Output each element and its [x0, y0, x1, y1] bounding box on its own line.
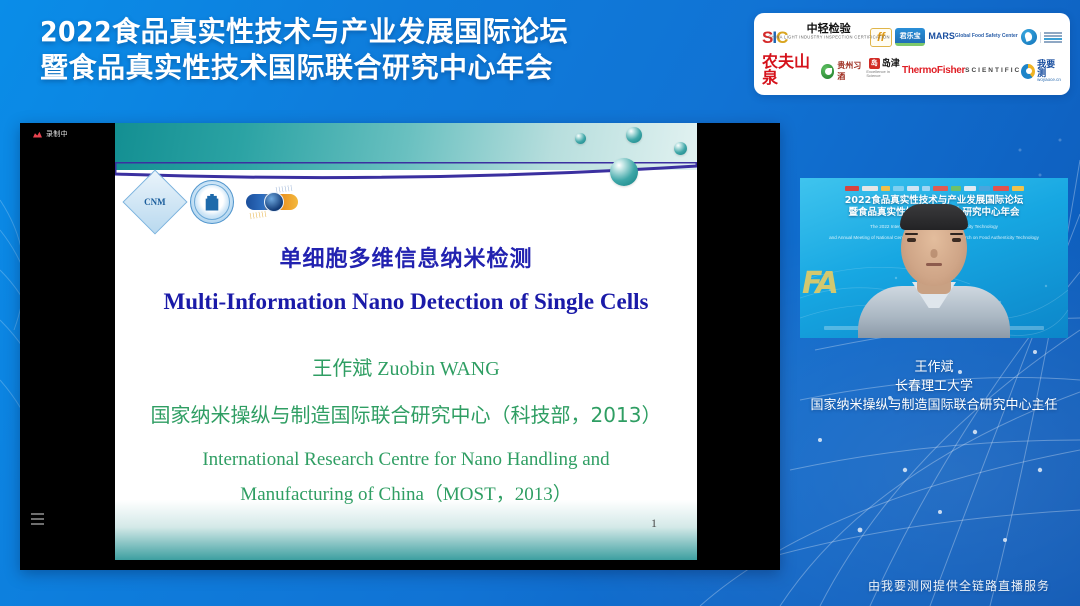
shimadzu-logo: 岛岛津 Excellence in Science [866, 58, 902, 84]
slide-title-chinese: 单细胞多维信息纳米检测 [135, 241, 677, 273]
woyaoce-logo: 我要测 woyaoce.cn [1021, 58, 1062, 84]
sponsor-logo-panel: SIC 中轻检验 CHINA LIGHT INDUSTRY INSPECTION… [754, 13, 1070, 95]
bubble-decoration [626, 127, 642, 143]
bubble-decoration [575, 133, 586, 144]
speaker-organization: 长春理工大学 [800, 377, 1068, 396]
bubble-decoration [674, 142, 687, 155]
slide-affiliation-chinese: 国家纳米操纵与制造国际联合研究中心（科技部，2013） [135, 399, 677, 428]
mars-gfsc-logo: MARS Global Food Safety Center [928, 24, 1017, 50]
conference-title-line1: 2022食品真实性技术与产业发展国际论坛 [40, 14, 568, 50]
slide-title-english: Multi-Information Nano Detection of Sing… [135, 289, 677, 315]
speaker-name: 王作斌 [800, 358, 1068, 377]
mars-sub: Global Food Safety Center [955, 34, 1018, 39]
livestream-page: 2022食品真实性技术与产业发展国际论坛 暨食品真实性技术国际联合研究中心年会 … [0, 0, 1080, 606]
imms-wordmark [1040, 32, 1062, 43]
slide-footer-band [115, 500, 697, 560]
recording-label: 录制中 [46, 129, 68, 139]
junlebao-logo: 君乐宝 [895, 24, 925, 50]
slide-content: 单细胞多维信息纳米检测 Multi-Information Nano Detec… [115, 241, 697, 506]
cnm-logo-label: CNM [144, 197, 166, 207]
speaker-banner-emblem: FA [802, 266, 836, 301]
speaker-banner-logos [808, 186, 1060, 191]
woyaoce-mark-icon [1021, 64, 1035, 79]
sponsor-row-2: 农夫山泉 贵州习酒 岛岛津 Excellence in Science Ther… [762, 55, 1062, 87]
slide-logo-group: CNM [132, 179, 298, 225]
recording-icon [33, 131, 42, 138]
video-player[interactable]: 录制中 CNM [20, 123, 780, 570]
slide-author: 王作斌 Zuobin WANG [135, 352, 677, 381]
zhongqing-jianyan-sub: CHINA LIGHT INDUSTRY INSPECTION CERTIFIC… [768, 37, 890, 41]
guizhou-xijiu-logo: 贵州习酒 [821, 58, 867, 84]
nongfu-spring-logo: 农夫山泉 [762, 58, 821, 84]
zhongqing-jianyan-label: 中轻检验 [807, 24, 851, 35]
sponsor-row-1: SIC 中轻检验 CHINA LIGHT INDUSTRY INSPECTION… [762, 21, 1062, 53]
speaker-info: 王作斌 长春理工大学 国家纳米操纵与制造国际联合研究中心主任 [800, 358, 1068, 415]
nano-lens-logo [246, 185, 298, 219]
cnm-logo: CNM [122, 169, 187, 234]
slide-header-band [115, 123, 697, 170]
university-seal-logo [190, 180, 234, 224]
slide-page-number: 1 [651, 516, 657, 531]
imms-logo [1021, 24, 1062, 50]
speaker-person [858, 220, 1010, 338]
bubble-decoration [610, 158, 638, 186]
conference-title: 2022食品真实性技术与产业发展国际论坛 暨食品真实性技术国际联合研究中心年会 [40, 14, 568, 86]
page-header: 2022食品真实性技术与产业发展国际论坛 暨食品真实性技术国际联合研究中心年会 … [0, 0, 1080, 110]
slide-affiliation-english-line1: International Research Centre for Nano H… [135, 449, 677, 471]
recording-indicator: 录制中 [33, 129, 68, 139]
zhongqing-jianyan-logo: 中轻检验 CHINA LIGHT INDUSTRY INSPECTION CER… [791, 24, 867, 50]
conference-title-line2: 暨食品真实性技术国际联合研究中心年会 [40, 50, 568, 86]
thermo-fisher-logo: ThermoFisher SCIENTIFIC [902, 58, 1021, 84]
speaker-video-tile[interactable]: 2022食品真实性技术与产业发展国际论坛 暨食品真实性技术国际联合研究中心年会 … [800, 178, 1068, 338]
presentation-slide: CNM 单细胞多维信息纳米检测 Multi-Information Nano D… [115, 123, 697, 560]
mars-label: MARS [928, 32, 955, 41]
playlist-icon[interactable] [31, 513, 45, 525]
xijiu-leaf-icon [821, 64, 835, 79]
footer-service-note: 由我要测网提供全链路直播服务 [868, 577, 1050, 594]
speaker-role: 国家纳米操纵与制造国际联合研究中心主任 [800, 396, 1068, 415]
imms-mark-icon [1021, 29, 1037, 45]
